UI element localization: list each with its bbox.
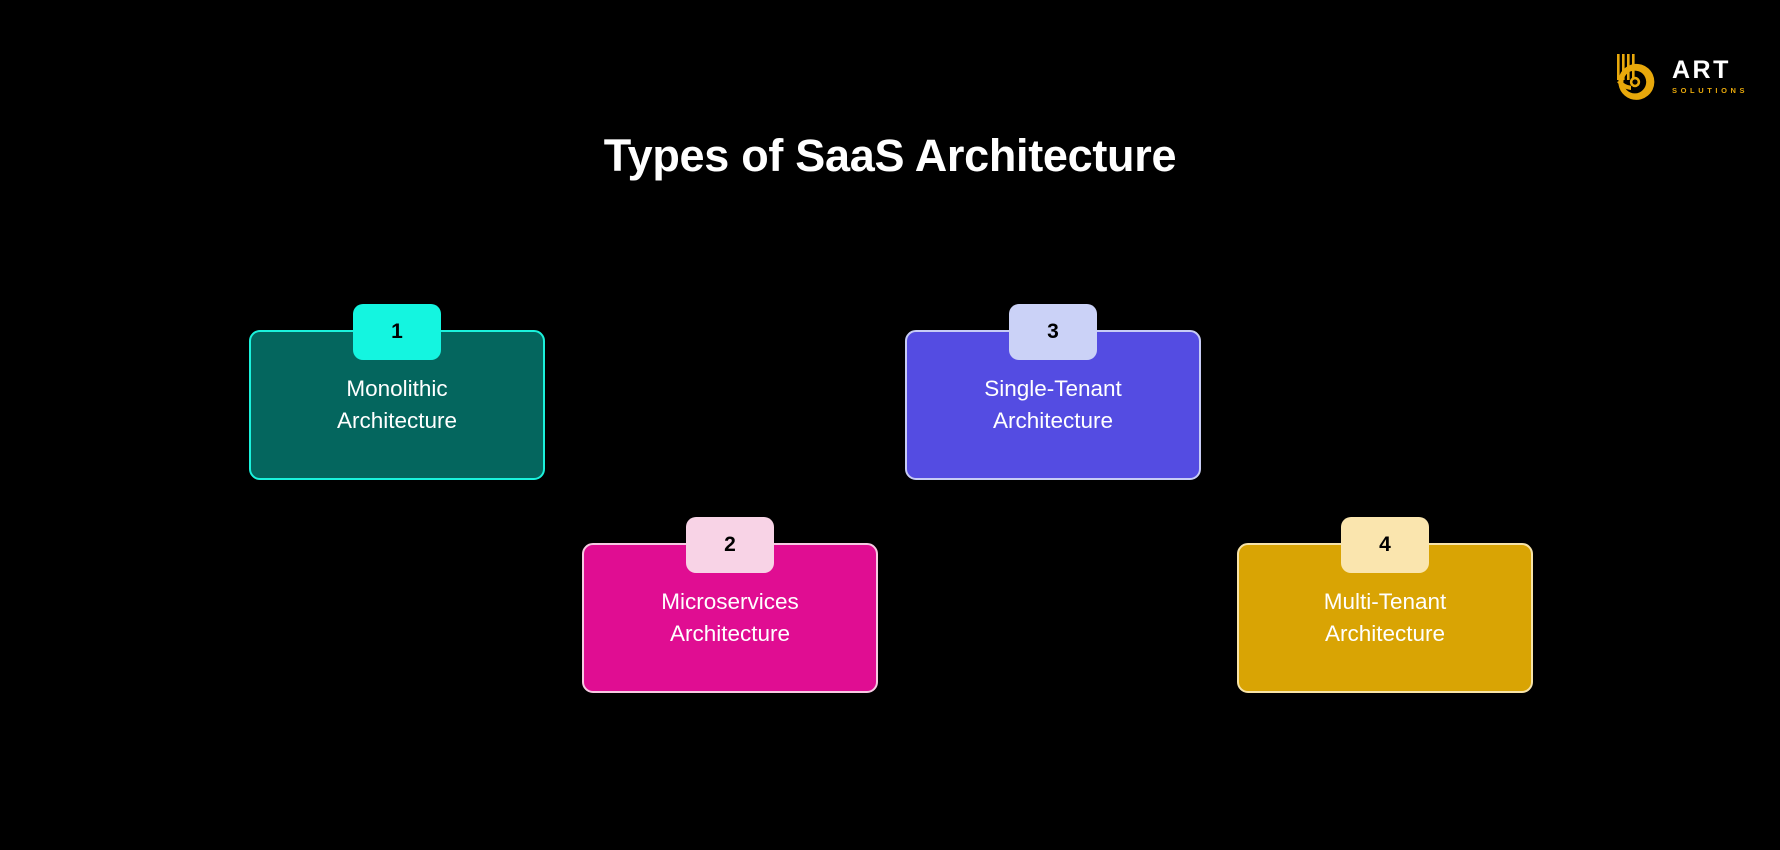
card-number-badge: 4: [1341, 517, 1429, 573]
card-number-badge: 3: [1009, 304, 1097, 360]
brand-logo-text: ART SOLUTIONS: [1672, 54, 1748, 95]
card-number-badge: 1: [353, 304, 441, 360]
card-label: Microservices Architecture: [661, 586, 799, 650]
card-multi-tenant-architecture[interactable]: Multi-Tenant Architecture 4: [1237, 543, 1533, 693]
card-label: Single-Tenant Architecture: [984, 373, 1122, 437]
art-solutions-logo-icon: [1612, 48, 1664, 100]
brand-name: ART: [1672, 58, 1748, 83]
card-monolithic-architecture[interactable]: Monolithic Architecture 1: [249, 330, 545, 480]
brand-logo: ART SOLUTIONS: [1612, 45, 1730, 103]
card-number-badge: 2: [686, 517, 774, 573]
card-microservices-architecture[interactable]: Microservices Architecture 2: [582, 543, 878, 693]
brand-tagline: SOLUTIONS: [1672, 87, 1748, 95]
card-label: Multi-Tenant Architecture: [1324, 586, 1447, 650]
page-title: Types of SaaS Architecture: [0, 130, 1780, 182]
card-label: Monolithic Architecture: [337, 373, 457, 437]
slide-canvas: ART SOLUTIONS Types of SaaS Architecture…: [0, 0, 1780, 850]
card-single-tenant-architecture[interactable]: Single-Tenant Architecture 3: [905, 330, 1201, 480]
